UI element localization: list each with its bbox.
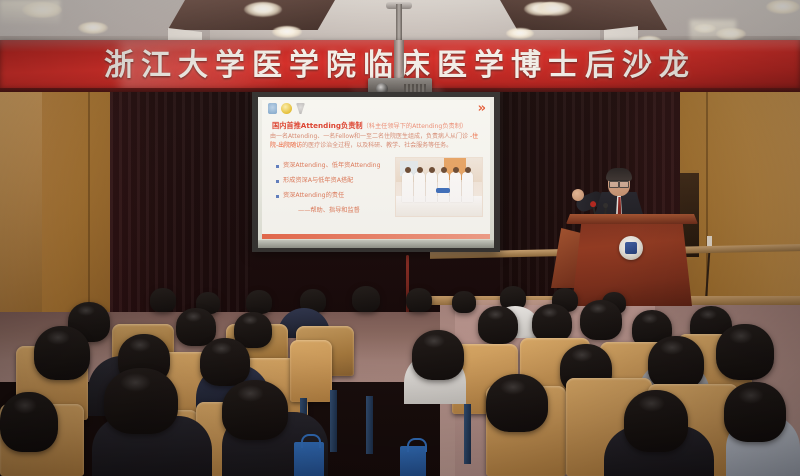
photo-blue-object <box>436 188 450 193</box>
ceiling-light-icon <box>766 0 800 14</box>
slide-logo-group <box>268 103 305 114</box>
audience-head <box>352 286 380 312</box>
slide-title-sub: （科主任领导下的Attending负责制） <box>363 123 467 130</box>
slide-bullet-list: 资深Attending、低年资Attending 形成资深A与低年资A搭配 资深… <box>276 162 406 215</box>
presentation-slide: » 国内首推Attending负责制（科主任领导下的Attending负责制） … <box>262 100 490 239</box>
audience-head <box>104 368 178 434</box>
audience-head <box>406 288 432 312</box>
audience-head <box>452 291 476 313</box>
speaker-hand <box>572 189 584 201</box>
slide-title-main: 国内首推Attending负责制 <box>272 121 363 130</box>
audience-head <box>716 324 774 380</box>
audience-head <box>624 390 688 452</box>
audience-head <box>580 300 622 340</box>
projection-screen: » 国内首推Attending负责制（科主任领导下的Attending负责制） … <box>258 97 494 247</box>
photo-person <box>438 172 449 202</box>
audience-head <box>486 374 548 432</box>
photo-person <box>462 172 473 202</box>
seat-leg <box>366 396 373 454</box>
seat-leg <box>464 404 471 464</box>
audience-head <box>246 290 272 314</box>
auditorium-photo: 浙江大学医学院临床医学博士后沙龙 » <box>0 0 800 476</box>
ceiling-beam-right <box>500 0 667 30</box>
audience-head <box>648 336 704 390</box>
glasses-icon <box>609 180 629 186</box>
bullet-sub-text: ——帮助、指导和监督 <box>298 207 406 215</box>
podium-desktop <box>566 214 698 224</box>
slide-body-line-2: 的医疗诊治全过程，以及科研、教学、社会服务等任务。 <box>302 142 452 149</box>
audience-head <box>150 288 176 312</box>
ceiling-light-icon <box>536 2 572 16</box>
university-emblem-icon <box>619 236 643 260</box>
audience-head <box>200 338 250 386</box>
badge-blue-logo-icon <box>268 103 277 114</box>
audience-head <box>176 308 216 346</box>
bullet-text: 资深Attending的责任 <box>283 192 344 200</box>
chevron-right-icon: » <box>478 102 484 115</box>
bullet-text: 资深Attending、低年资Attending <box>283 162 381 170</box>
ceiling-light-icon <box>272 26 302 38</box>
light-glare <box>0 0 60 26</box>
slide-photo <box>395 157 483 217</box>
slide-footer-bar <box>262 234 490 239</box>
audience-head <box>532 304 572 342</box>
ceiling-light-icon <box>244 2 282 17</box>
audience-head <box>412 330 464 380</box>
list-item: 资深Attending的责任 <box>276 192 406 200</box>
seat-leg <box>330 390 337 452</box>
bullet-marker-icon <box>276 165 279 168</box>
tote-bag <box>294 442 324 476</box>
photo-medical-staff <box>402 172 473 202</box>
audience-head <box>478 306 518 344</box>
audience-area <box>0 286 800 476</box>
photo-person <box>414 172 425 202</box>
slide-body-text: 由一名Attending、一名Fellow和一至二名住院医生组成，负责病人从门诊… <box>270 133 482 150</box>
screen-bottom-bar <box>258 240 494 248</box>
bullet-text: 形成资深A与低年资A搭配 <box>283 177 353 185</box>
audience-head <box>34 326 90 380</box>
ceiling-light-icon <box>506 28 534 39</box>
audience-head <box>222 380 288 440</box>
slide-title: 国内首推Attending负责制（科主任领导下的Attending负责制） <box>272 121 482 131</box>
seat <box>290 340 332 402</box>
photo-person <box>450 172 461 202</box>
photo-person <box>426 172 437 202</box>
photo-person <box>402 172 413 202</box>
bullet-marker-icon <box>276 195 279 198</box>
audience-head <box>724 382 786 442</box>
list-item: 资深Attending、低年资Attending <box>276 162 406 170</box>
audience-head <box>0 392 58 452</box>
crest-grey-logo-icon <box>296 103 305 114</box>
slide-body-line-1: 由一名Attending、一名Fellow和一至二名住院医生组成，负责病人从门诊 <box>270 133 468 140</box>
bullet-marker-icon <box>276 180 279 183</box>
tote-bag <box>400 446 426 476</box>
seal-gold-logo-icon <box>281 103 292 114</box>
list-item: 形成资深A与低年资A搭配 <box>276 177 406 185</box>
ceiling-light-icon <box>78 22 108 34</box>
